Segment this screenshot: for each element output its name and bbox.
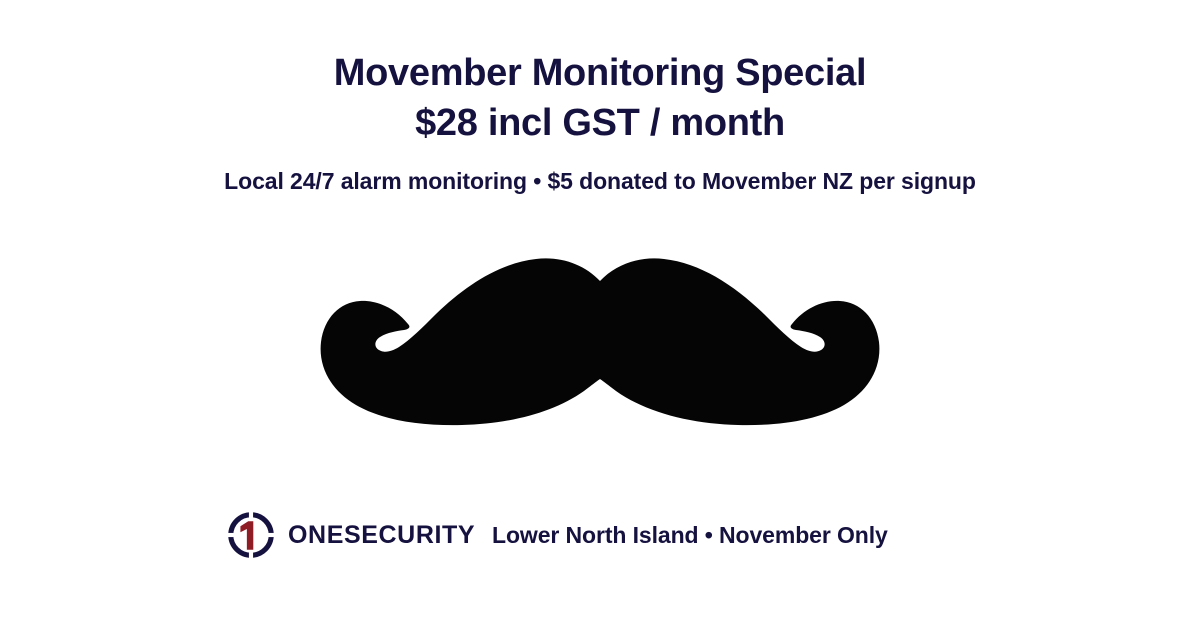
page-title: Movember Monitoring Special $28 incl GST… bbox=[0, 48, 1200, 148]
footer-band: ONESECURITY Lower North Island • Novembe… bbox=[0, 504, 1200, 566]
brand-wordmark: ONESECURITY bbox=[288, 523, 475, 548]
promo-poster: Movember Monitoring Special $28 incl GST… bbox=[0, 0, 1200, 630]
footer-tagline: Lower North Island • November Only bbox=[492, 504, 888, 566]
onesecurity-logo-icon bbox=[228, 512, 274, 558]
headline-line-2: $28 incl GST / month bbox=[0, 98, 1200, 148]
hero-art bbox=[320, 258, 880, 428]
headline-line-1: Movember Monitoring Special bbox=[0, 48, 1200, 98]
moustache-icon bbox=[320, 258, 880, 428]
brand-lockup: ONESECURITY bbox=[228, 504, 475, 566]
subtitle: Local 24/7 alarm monitoring • $5 donated… bbox=[0, 166, 1200, 196]
